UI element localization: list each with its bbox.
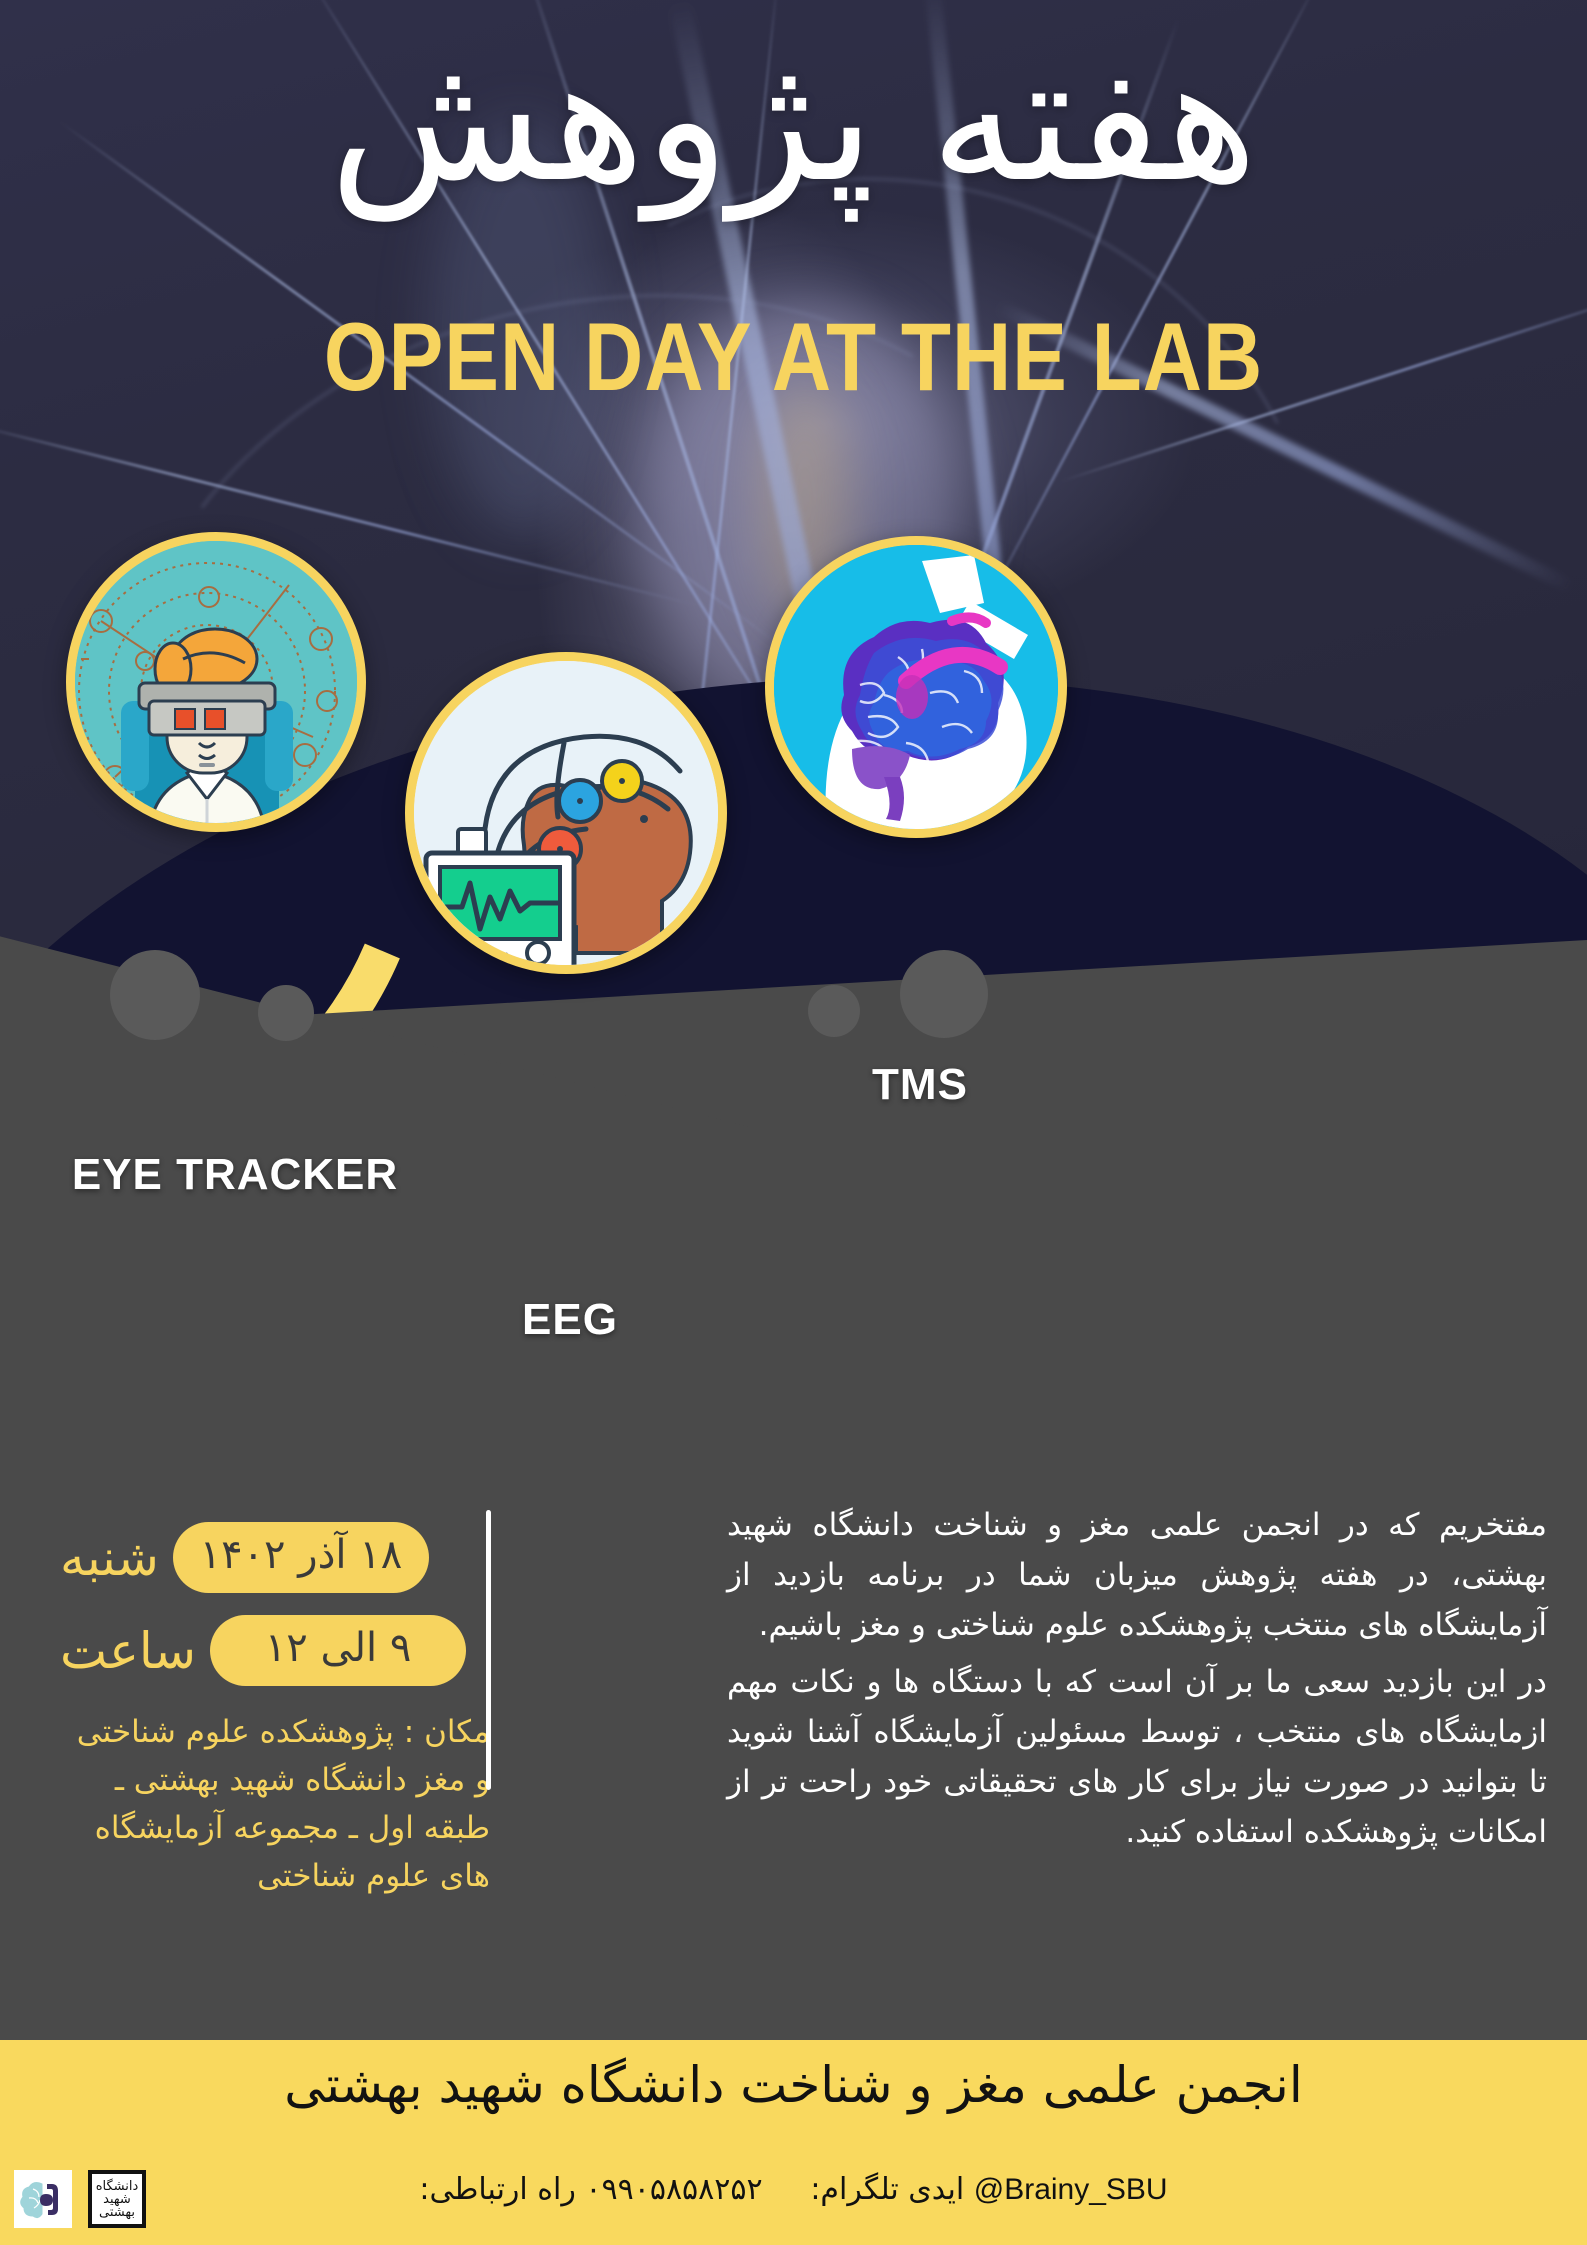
poster-root: هفته پژوهش OPEN DAY AT THE LAB [0,0,1587,2245]
brain-association-logo [14,2170,72,2228]
lab-label-eeg: EEG [420,1295,720,1345]
eeg-icon [405,661,718,974]
info-section: ۱۸ آذر ۱۴۰۲ شنبه ۹ الی ۱۲ ساعت مکان : پژ… [0,1500,1587,2030]
lab-badge-eeg[interactable] [405,652,727,974]
event-location-text: مکان : پژوهشکده علوم شناختی و مغز دانشگا… [60,1708,490,1900]
event-date-pill: ۱۸ آذر ۱۴۰۲ [173,1522,429,1593]
poster-title-persian: هفته پژوهش [0,28,1587,212]
description-block: مفتخریم که در انجمن علمی مغز و شناخت دان… [727,1500,1547,1864]
poster-title-english: OPEN DAY AT THE LAB [0,310,1587,407]
event-details-column: ۱۸ آذر ۱۴۰۲ شنبه ۹ الی ۱۲ ساعت مکان : پژ… [60,1522,490,1900]
telegram-handle[interactable]: @Brainy_SBU [974,2173,1168,2207]
eye-tracker-icon [66,541,357,832]
sbu-university-logo: دانشگاه شهید بهشتی [88,2170,146,2228]
telegram-label: ایدی تلگرام: [810,2172,964,2207]
lab-badge-tms[interactable] [765,536,1067,838]
event-time-pill: ۹ الی ۱۲ [210,1615,466,1686]
event-time-label: ساعت [60,1626,196,1676]
tms-icon [765,545,1058,838]
decorative-circle [900,950,988,1038]
event-day-label: شنبه [60,1533,159,1583]
logo-row: دانشگاه شهید بهشتی [14,2170,146,2228]
footer-bar: انجمن علمی مغز و شناخت دانشگاه شهید بهشت… [0,2040,1587,2245]
decorative-circle [808,985,860,1037]
vertical-divider [486,1510,491,1790]
sbu-logo-text: دانشگاه شهید بهشتی [92,2180,142,2219]
phone-number: ۰۹۹۰۵۸۵۸۲۵۲ [585,2172,762,2207]
decorative-circle [258,985,314,1041]
contact-line: @Brainy_SBU ایدی تلگرام: ۰۹۹۰۵۸۵۸۲۵۲ راه… [0,2172,1587,2207]
event-time-row: ۹ الی ۱۲ ساعت [60,1615,490,1686]
organization-name: انجمن علمی مغز و شناخت دانشگاه شهید بهشت… [0,2058,1587,2113]
description-paragraph-2: در این بازدید سعی ما بر آن است که با دست… [727,1657,1547,1858]
lab-label-tms: TMS [770,1060,1070,1110]
lab-label-eye-tracker: EYE TRACKER [70,1150,400,1200]
contact-label: راه ارتباطی: [419,2172,575,2207]
event-day-row: ۱۸ آذر ۱۴۰۲ شنبه [60,1522,490,1593]
decorative-circle [110,950,200,1040]
lab-badge-eye-tracker[interactable] [66,532,366,832]
description-paragraph-1: مفتخریم که در انجمن علمی مغز و شناخت دان… [727,1500,1547,1651]
brain-icon [20,2176,66,2222]
